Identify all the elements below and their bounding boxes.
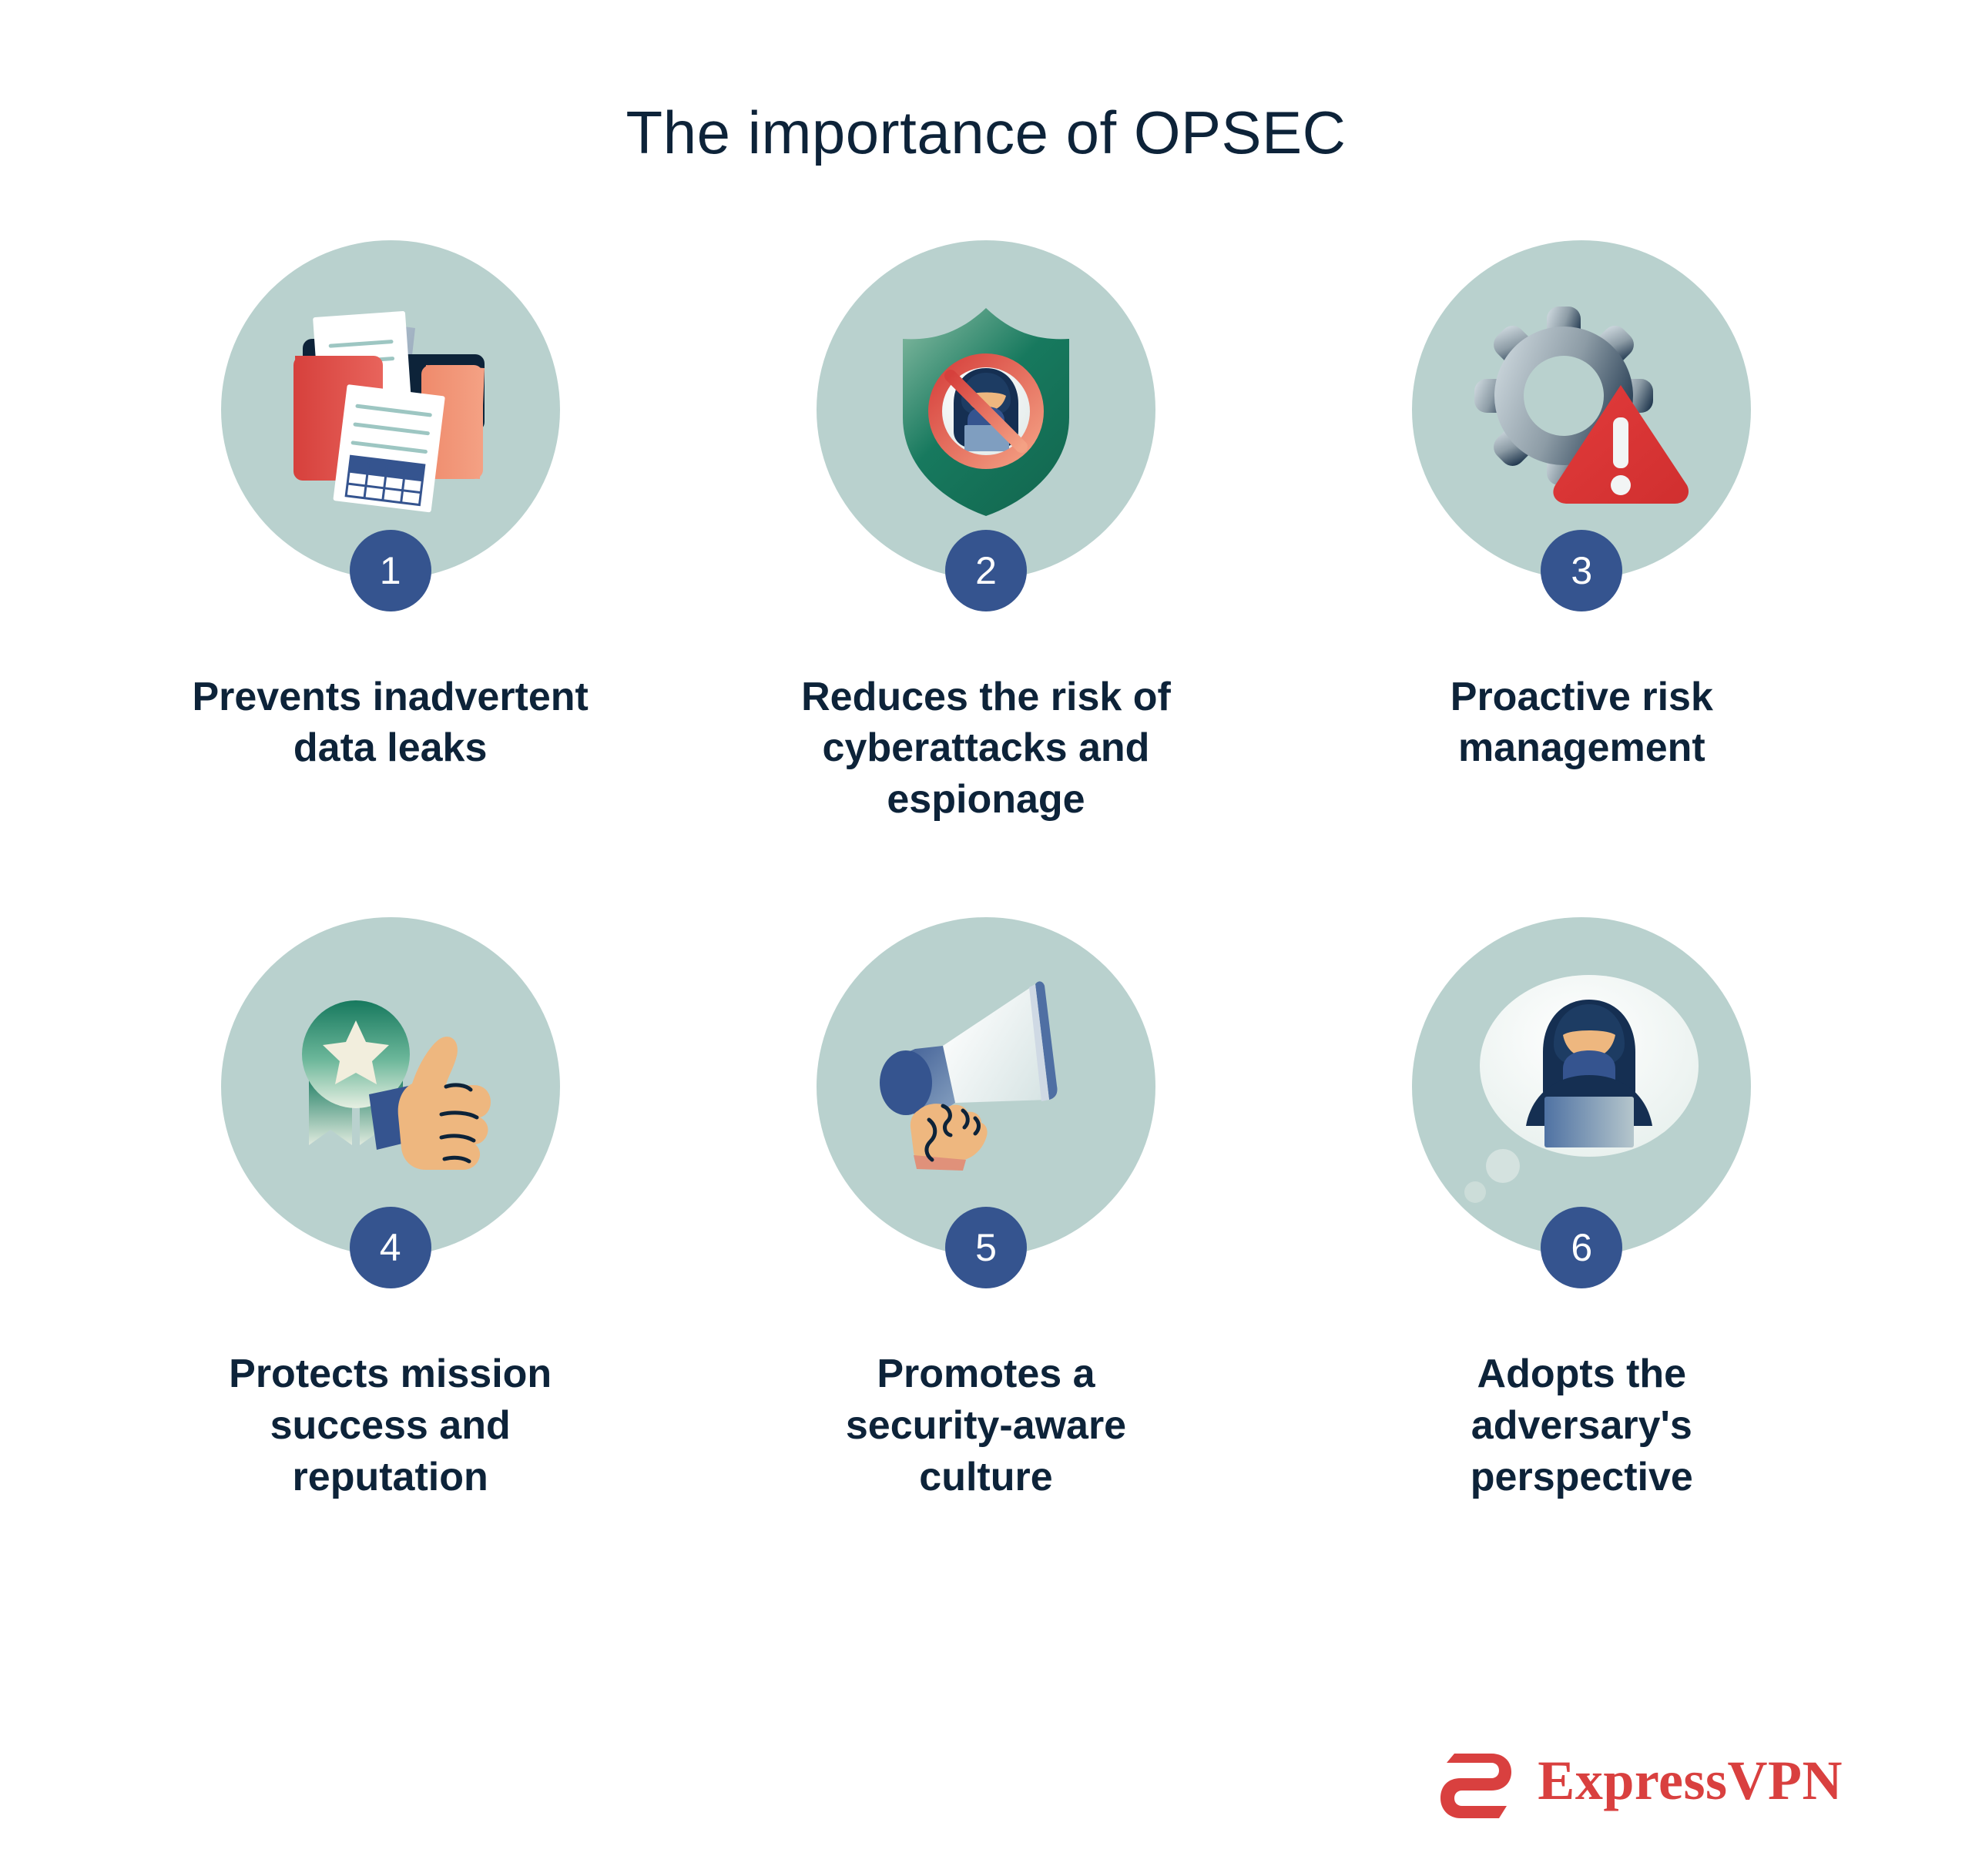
page-title: The importance of OPSEC [0,0,1972,166]
benefit-caption: Reduces the risk of cyberattacks and esp… [801,672,1171,826]
step-badge: 2 [945,530,1027,611]
benefit-caption: Promotes a security-aware culture [846,1348,1126,1502]
icon-circle-2: 2 [817,240,1155,579]
step-badge: 4 [350,1207,431,1288]
icon-circle-4: 4 [221,917,560,1256]
shield-no-hacker-icon [817,240,1155,579]
step-badge: 6 [1541,1207,1622,1288]
benefit-item-1: 1 Prevents inadvertent data leaks [92,240,688,826]
benefits-grid: 1 Prevents inadvertent data leaks [0,240,1972,1502]
expressvpn-logo: ExpressVPN [1437,1738,1843,1822]
gear-warning-icon [1412,240,1751,579]
benefit-caption: Adopts the adversary's perspective [1366,1348,1797,1502]
documents-folders-icon [221,240,560,579]
megaphone-icon [817,917,1155,1256]
icon-circle-3: 3 [1412,240,1751,579]
thought-bubble-hacker-icon [1412,917,1751,1256]
award-thumbs-up-icon [221,917,560,1256]
expressvpn-logo-text: ExpressVPN [1538,1753,1843,1808]
icon-circle-1: 1 [221,240,560,579]
step-badge: 1 [350,530,431,611]
step-badge: 3 [1541,530,1622,611]
benefit-item-6: 6 Adopts the adversary's perspective [1284,917,1880,1502]
benefit-caption: Protects mission success and reputation [229,1348,552,1502]
benefit-caption: Proactive risk management [1450,672,1713,774]
icon-circle-5: 5 [817,917,1155,1256]
benefit-item-4: 4 Protects mission success and reputatio… [92,917,688,1502]
expressvpn-logo-mark [1437,1738,1518,1822]
step-badge: 5 [945,1207,1027,1288]
icon-circle-6: 6 [1412,917,1751,1256]
infographic-page: The importance of OPSEC [0,0,1972,1876]
benefit-item-2: 2 Reduces the risk of cyberattacks and e… [688,240,1283,826]
benefit-item-3: 3 Proactive risk management [1284,240,1880,826]
benefit-caption: Prevents inadvertent data leaks [192,672,588,774]
benefit-item-5: 5 Promotes a security-aware culture [688,917,1283,1502]
